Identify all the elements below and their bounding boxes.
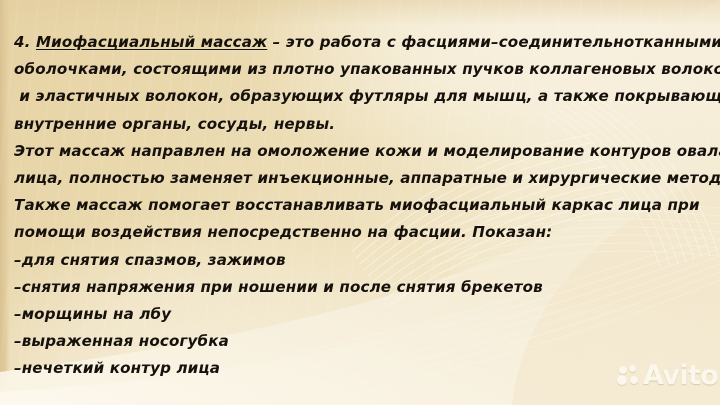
list-item: –снятия напряжения при ношении и после с… xyxy=(14,274,708,301)
paragraph-intro: 4. Миофасциальный массаж – это работа с … xyxy=(14,29,708,138)
line-prefix: 4. xyxy=(14,33,36,51)
text-line: внутренние органы, сосуды, нервы. xyxy=(14,111,708,138)
paragraph-body: Этот массаж направлен на омоложение кожи… xyxy=(14,138,708,247)
line-suffix: – это работа с фасциями–соединительнотка… xyxy=(267,33,720,51)
text-line: помощи воздействия непосредственно на фа… xyxy=(14,219,708,246)
avito-watermark: Avito xyxy=(617,362,718,389)
paragraph-indications: –для снятия спазмов, зажимов –снятия нап… xyxy=(14,247,708,383)
list-item: –выраженная носогубка xyxy=(14,328,708,355)
text-line: и эластичных волокон, образующих футляры… xyxy=(14,83,708,110)
avito-brand-text: Avito xyxy=(643,362,718,389)
text-line: лица, полностью заменяет инъекционные, а… xyxy=(14,165,708,192)
list-item: –для снятия спазмов, зажимов xyxy=(14,247,708,274)
line-underlined-term: Миофасциальный массаж xyxy=(36,33,267,51)
text-line: Этот массаж направлен на омоложение кожи… xyxy=(14,138,708,165)
slide-text-body: 4. Миофасциальный массаж – это работа с … xyxy=(14,29,708,383)
list-item: –морщины на лбу xyxy=(14,301,708,328)
avito-dots-icon xyxy=(617,365,639,387)
text-line: 4. Миофасциальный массаж – это работа с … xyxy=(14,29,708,56)
text-line: Также массаж помогает восстанавливать ми… xyxy=(14,192,708,219)
list-item: –нечеткий контур лица xyxy=(14,355,708,382)
presentation-slide: 4. Миофасциальный массаж – это работа с … xyxy=(0,0,720,405)
text-line: оболочками, состоящими из плотно упакова… xyxy=(14,56,708,83)
